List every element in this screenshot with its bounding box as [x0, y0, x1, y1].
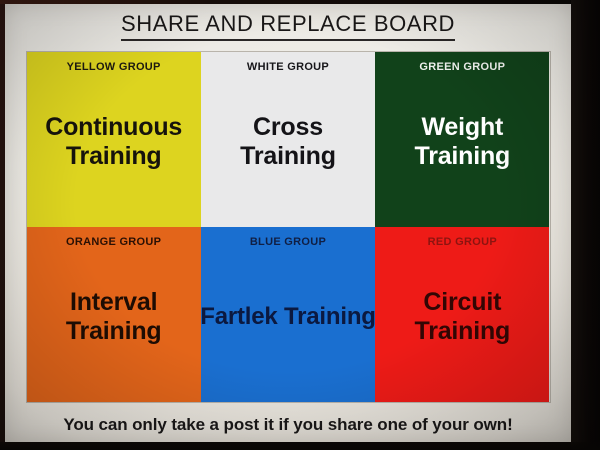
group-body: Interval Training [27, 248, 201, 402]
group-body: Cross Training [201, 73, 375, 227]
group-cell-green[interactable]: GREEN GROUP Weight Training [375, 52, 549, 227]
group-cell-yellow[interactable]: YELLOW GROUP Continuous Training [27, 52, 201, 227]
group-title-line2: Training [66, 317, 162, 345]
photo-frame: SHARE AND REPLACE BOARD YELLOW GROUP Con… [0, 0, 600, 450]
group-title-line2: Training [415, 317, 511, 345]
group-cell-blue[interactable]: BLUE GROUP Fartlek Training [201, 227, 375, 402]
group-title-line2: Training [415, 142, 511, 170]
group-body: Continuous Training [27, 73, 201, 227]
group-title-line1: Fartlek Training [201, 303, 375, 330]
group-title-line2: Training [240, 142, 336, 170]
group-title-line1: Interval [70, 288, 157, 316]
group-cell-red[interactable]: RED GROUP Circuit Training [375, 227, 549, 402]
group-title-line1: Cross [253, 113, 323, 141]
group-header-label: YELLOW GROUP [67, 61, 161, 73]
group-title: Fartlek Training [201, 303, 375, 331]
group-title-line1: Continuous [45, 113, 182, 141]
group-title: Weight Training [411, 113, 515, 172]
group-title: Circuit Training [411, 288, 515, 347]
group-body: Weight Training [375, 73, 549, 227]
photo-bottom-edge [0, 442, 600, 450]
group-grid: YELLOW GROUP Continuous Training WHITE G… [26, 51, 551, 403]
group-cell-white[interactable]: WHITE GROUP Cross Training [201, 52, 375, 227]
group-title-line2: Training [66, 142, 162, 170]
group-body: Fartlek Training [201, 248, 375, 402]
group-title: Interval Training [62, 288, 166, 347]
group-header-label: RED GROUP [428, 236, 497, 248]
group-header-label: ORANGE GROUP [66, 236, 161, 248]
group-header-label: WHITE GROUP [247, 61, 329, 73]
group-header-label: BLUE GROUP [250, 236, 326, 248]
group-body: Circuit Training [375, 248, 549, 402]
group-header-label: GREEN GROUP [419, 61, 505, 73]
photo-right-edge [571, 0, 600, 450]
group-title: Cross Training [236, 113, 340, 172]
group-title: Continuous Training [41, 113, 186, 172]
board-sheet: SHARE AND REPLACE BOARD YELLOW GROUP Con… [5, 4, 571, 442]
group-cell-orange[interactable]: ORANGE GROUP Interval Training [27, 227, 201, 402]
group-title-line1: Circuit [423, 288, 501, 316]
page-title: SHARE AND REPLACE BOARD [121, 11, 455, 41]
group-title-line1: Weight [421, 113, 503, 141]
board-footer-note: You can only take a post it if you share… [63, 415, 512, 435]
